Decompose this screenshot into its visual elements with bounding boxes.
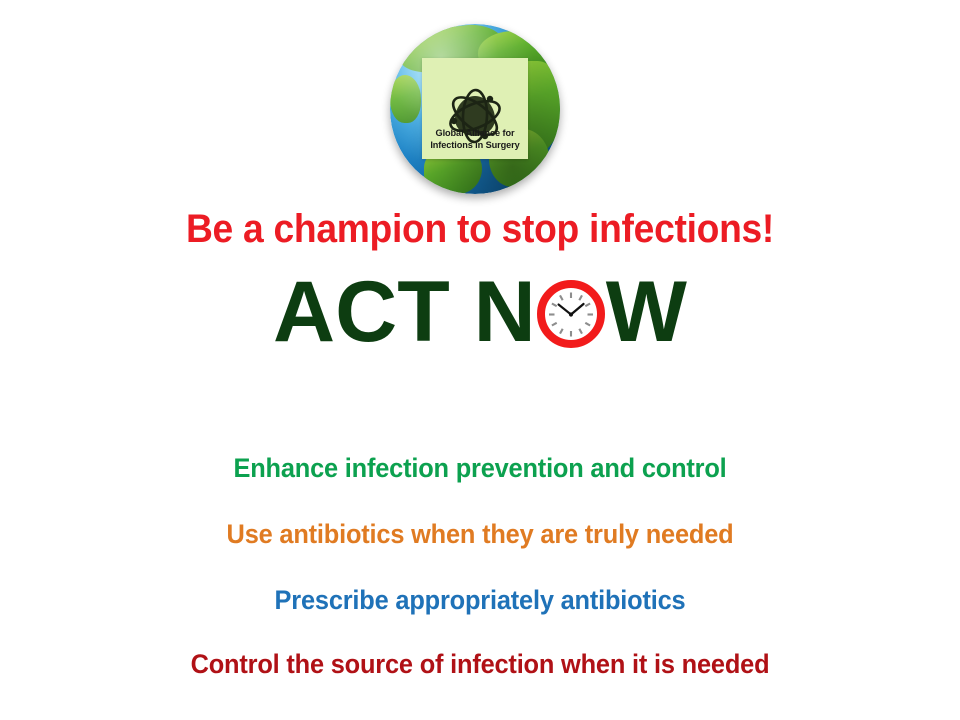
logo-text-line-2: Infections in Surgery xyxy=(422,139,528,151)
message-list: Enhance infection prevention and control… xyxy=(0,440,960,678)
organization-logo: Global Alliance for Infections in Surger… xyxy=(382,18,568,204)
poster-canvas: Global Alliance for Infections in Surger… xyxy=(0,0,960,720)
clock-icon xyxy=(537,280,605,348)
logo-card: Global Alliance for Infections in Surger… xyxy=(422,58,528,159)
act-now-part-1: ACT N xyxy=(273,268,536,356)
message-line: Enhance infection prevention and control xyxy=(29,454,931,482)
message-line: Prescribe appropriately antibiotics xyxy=(29,586,931,614)
message-line: Use antibiotics when they are truly need… xyxy=(29,520,931,548)
clock-face xyxy=(537,280,605,348)
headline-text: Be a champion to stop infections! xyxy=(34,206,927,252)
act-now-part-2: W xyxy=(606,268,687,356)
logo-text-line-1: Global Alliance for xyxy=(422,127,528,139)
logo-text: Global Alliance for Infections in Surger… xyxy=(422,127,528,151)
call-to-action: ACT N xyxy=(0,264,960,360)
message-line: Control the source of infection when it … xyxy=(29,650,931,678)
